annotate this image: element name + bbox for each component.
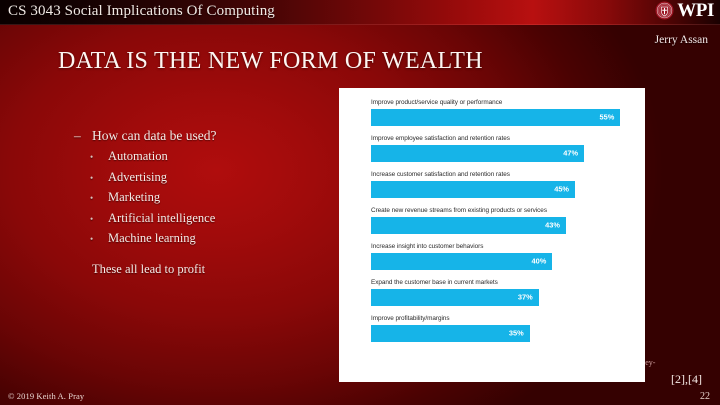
bar-track: 55% [371,109,635,126]
copyright-notice: © 2019 Keith A. Pray [8,391,84,401]
bar-chart-row: Create new revenue streams from existing… [371,207,635,234]
course-title: CS 3043 Social Implications Of Computing [8,3,275,20]
bar-category-label: Improve product/service quality or perfo… [371,99,635,106]
bar-value-label: 43% [545,221,560,230]
citation-reference: [2],[4] [671,372,702,387]
bar-value-label: 47% [563,149,578,158]
bar-category-label: Create new revenue streams from existing… [371,207,635,214]
list-item: • Advertising [90,170,324,185]
page-number: 22 [700,391,710,402]
bar-track: 37% [371,289,635,306]
bar-category-label: Increase insight into customer behaviors [371,243,635,250]
bar-fill: 45% [371,181,575,198]
dot-bullet-icon: • [90,193,108,203]
author-name: Jerry Assan [655,34,708,46]
dot-bullet-icon: • [90,234,108,244]
dot-bullet-icon: • [90,152,108,162]
bar-fill: 37% [371,289,539,306]
list-item-label: Artificial intelligence [108,211,215,226]
wpi-seal-icon [655,1,674,20]
bar-fill: 35% [371,325,530,342]
dot-bullet-icon: • [90,173,108,183]
bar-chart-row: Improve product/service quality or perfo… [371,99,635,126]
bar-value-label: 55% [600,113,615,122]
bar-chart-row: Improve profitability/margins35% [371,315,635,342]
bar-chart-row: Improve employee satisfaction and retent… [371,135,635,162]
bar-chart-row: Increase customer satisfaction and reten… [371,171,635,198]
list-item-label: How can data be used? [92,128,216,144]
wpi-logo: WPI [655,1,714,20]
bar-chart-plot: Improve product/service quality or perfo… [371,99,635,351]
list-item-label: Automation [108,149,168,164]
bar-category-label: Increase customer satisfaction and reten… [371,171,635,178]
bar-fill: 55% [371,109,620,126]
bar-chart-row: Increase insight into customer behaviors… [371,243,635,270]
closing-statement: These all lead to profit [92,262,324,277]
bar-track: 47% [371,145,635,162]
bar-value-label: 35% [509,329,524,338]
bar-value-label: 40% [532,257,547,266]
bar-fill: 47% [371,145,584,162]
list-item: • Automation [90,149,324,164]
bar-value-label: 37% [518,293,533,302]
list-item: – How can data be used? [74,128,324,144]
list-item: • Artificial intelligence [90,211,324,226]
dot-bullet-icon: • [90,214,108,224]
bar-value-label: 45% [554,185,569,194]
wpi-wordmark: WPI [677,1,714,20]
bar-category-label: Improve profitability/margins [371,315,635,322]
slide-header-bar: CS 3043 Social Implications Of Computing… [0,0,720,25]
list-item: • Machine learning [90,231,324,246]
bar-category-label: Improve employee satisfaction and retent… [371,135,635,142]
list-item-label: Machine learning [108,231,196,246]
bar-track: 35% [371,325,635,342]
bar-chart-row: Expand the customer base in current mark… [371,279,635,306]
page-title: DATA IS THE NEW FORM OF WEALTH [58,48,483,75]
bar-track: 40% [371,253,635,270]
bar-track: 43% [371,217,635,234]
list-item-label: Advertising [108,170,167,185]
bar-fill: 40% [371,253,552,270]
list-item: • Marketing [90,190,324,205]
bar-fill: 43% [371,217,566,234]
list-item-label: Marketing [108,190,160,205]
bar-chart-image: Improve product/service quality or perfo… [339,88,645,382]
bar-track: 45% [371,181,635,198]
bar-category-label: Expand the customer base in current mark… [371,279,635,286]
presentation-slide: CS 3043 Social Implications Of Computing… [0,0,720,405]
dash-bullet-icon: – [74,128,92,144]
bullet-list: – How can data be used? • Automation • A… [74,128,324,277]
